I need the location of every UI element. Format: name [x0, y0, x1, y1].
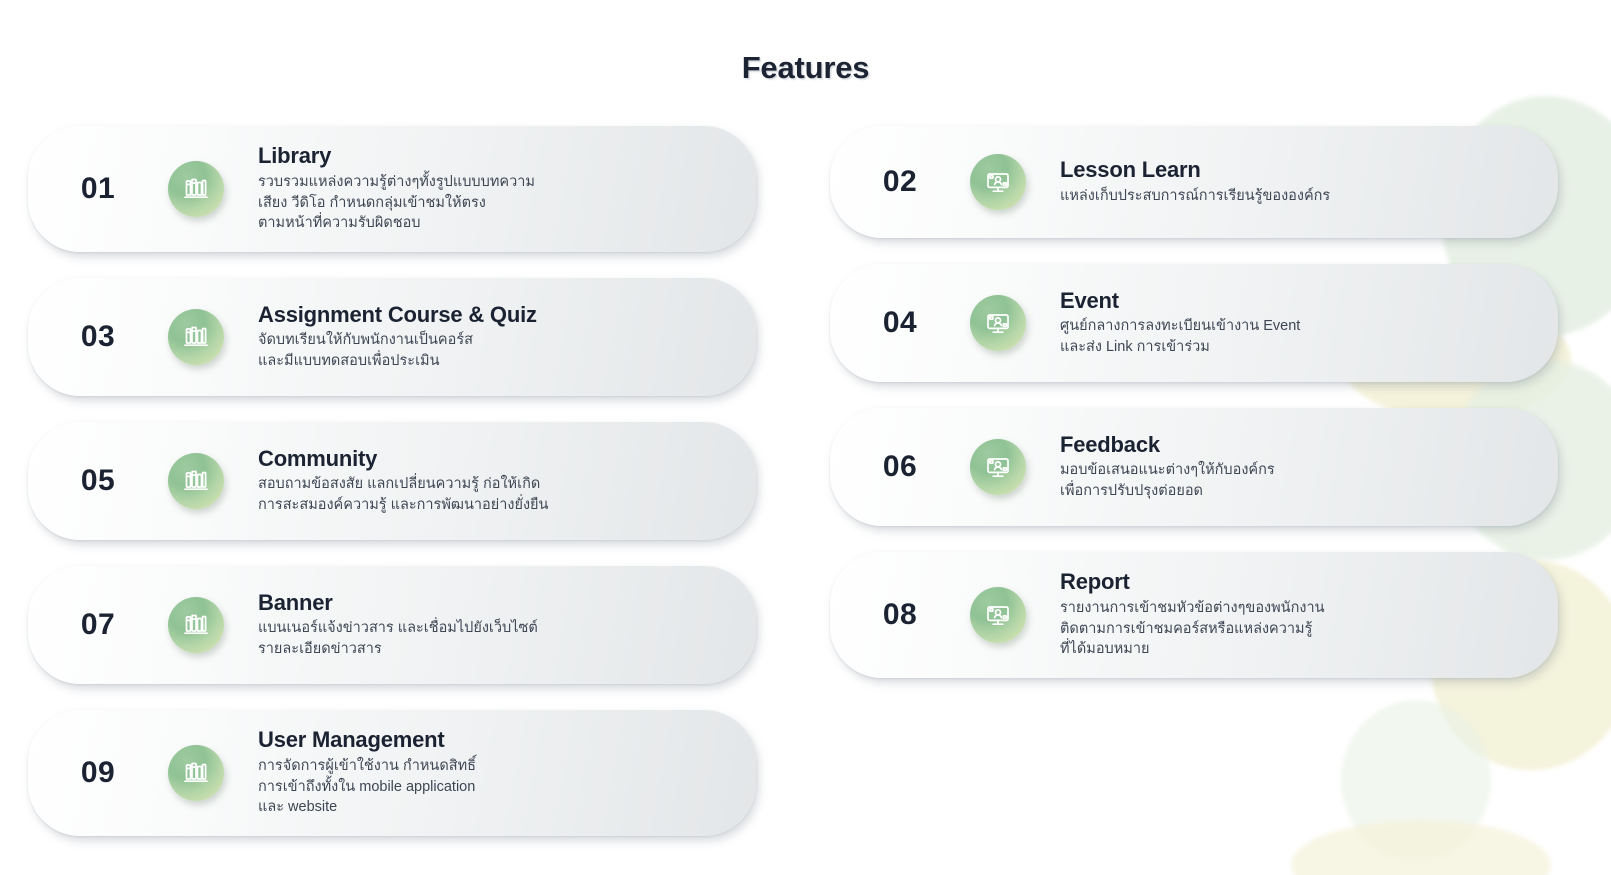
library-books-icon: [168, 161, 224, 217]
feature-number: 04: [830, 306, 970, 340]
feature-text-block: Assignment Course & Quizจัดบทเรียนให้กับ…: [258, 303, 756, 372]
feature-title: Community: [258, 447, 730, 472]
feature-icon-badge: [168, 745, 224, 801]
feature-icon-badge: [970, 439, 1026, 495]
feature-text-block: Bannerแบนเนอร์แจ้งข่าวสาร และเชื่อมไปยัง…: [258, 591, 756, 660]
feature-description: มอบข้อเสนอแนะต่างๆให้กับองค์กรเพื่อการปร…: [1060, 460, 1532, 501]
feature-text-block: Lesson Learnแหล่งเก็บประสบการณ์การเรียนร…: [1060, 158, 1558, 206]
feature-description: การจัดการผู้เข้าใช้งาน กำหนดสิทธิ์การเข้…: [258, 756, 730, 818]
feature-title: User Management: [258, 728, 730, 753]
feature-description-line: มอบข้อเสนอแนะต่างๆให้กับองค์กร: [1060, 460, 1532, 481]
feature-title: Lesson Learn: [1060, 158, 1532, 183]
feature-description: แหล่งเก็บประสบการณ์การเรียนรู้ขององค์กร: [1060, 186, 1532, 207]
feature-card[interactable]: 04Eventศูนย์กลางการลงทะเบียนเข้างาน Even…: [830, 264, 1558, 382]
feature-card[interactable]: 08Reportรายงานการเข้าชมหัวข้อต่างๆของพนั…: [830, 552, 1558, 678]
feature-description-line: สอบถามข้อสงสัย แลกเปลี่ยนความรู้ ก่อให้เ…: [258, 474, 730, 495]
monitor-screen-icon: [970, 154, 1026, 210]
feature-description-line: และ website: [258, 797, 730, 818]
feature-description-line: ศูนย์กลางการลงทะเบียนเข้างาน Event: [1060, 316, 1532, 337]
feature-icon-badge: [970, 587, 1026, 643]
feature-description-line: แบนเนอร์แจ้งข่าวสาร และเชื่อมไปยังเว็บไซ…: [258, 618, 730, 639]
feature-number: 07: [28, 608, 168, 642]
feature-description-line: ติดตามการเข้าชมคอร์สหรือแหล่งความรู้: [1060, 619, 1532, 640]
feature-number: 03: [28, 320, 168, 354]
feature-number: 06: [830, 450, 970, 484]
feature-number: 01: [28, 172, 168, 206]
feature-icon-badge: [168, 161, 224, 217]
feature-description: แบนเนอร์แจ้งข่าวสาร และเชื่อมไปยังเว็บไซ…: [258, 618, 730, 659]
feature-description-line: เสียง วีดิโอ กำหนดกลุ่มเข้าชมให้ตรง: [258, 193, 730, 214]
feature-text-block: Eventศูนย์กลางการลงทะเบียนเข้างาน Eventแ…: [1060, 289, 1558, 358]
library-books-icon: [168, 453, 224, 509]
feature-icon-badge: [168, 309, 224, 365]
feature-description-line: และส่ง Link การเข้าร่วม: [1060, 337, 1532, 358]
library-books-icon: [168, 745, 224, 801]
feature-text-block: Libraryรวบรวมแหล่งความรู้ต่างๆทั้งรูปแบบ…: [258, 144, 756, 233]
monitor-screen-icon: [970, 439, 1026, 495]
feature-icon-badge: [168, 597, 224, 653]
feature-description-line: รายงานการเข้าชมหัวข้อต่างๆของพนักงาน: [1060, 598, 1532, 619]
feature-card[interactable]: 06Feedbackมอบข้อเสนอแนะต่างๆให้กับองค์กร…: [830, 408, 1558, 526]
features-column-left: 01Libraryรวบรวมแหล่งความรู้ต่างๆทั้งรูปแ…: [28, 126, 756, 862]
feature-card[interactable]: 01Libraryรวบรวมแหล่งความรู้ต่างๆทั้งรูปแ…: [28, 126, 756, 252]
feature-description-line: ตามหน้าที่ความรับผิดชอบ: [258, 213, 730, 234]
feature-description-line: จัดบทเรียนให้กับพนักงานเป็นคอร์ส: [258, 330, 730, 351]
library-books-icon: [168, 597, 224, 653]
feature-title: Banner: [258, 591, 730, 616]
feature-card[interactable]: 02Lesson Learnแหล่งเก็บประสบการณ์การเรีย…: [830, 126, 1558, 238]
feature-description-line: ที่ได้มอบหมาย: [1060, 639, 1532, 660]
feature-description-line: เพื่อการปรับปรุงต่อยอด: [1060, 481, 1532, 502]
feature-card[interactable]: 05Communityสอบถามข้อสงสัย แลกเปลี่ยนความ…: [28, 422, 756, 540]
feature-title: Event: [1060, 289, 1532, 314]
feature-title: Report: [1060, 570, 1532, 595]
monitor-screen-icon: [970, 295, 1026, 351]
features-page: Features 01Libraryรวบรวมแหล่งความรู้ต่าง…: [0, 0, 1611, 875]
feature-number: 09: [28, 756, 168, 790]
feature-card[interactable]: 09User Managementการจัดการผู้เข้าใช้งาน …: [28, 710, 756, 836]
feature-text-block: User Managementการจัดการผู้เข้าใช้งาน กำ…: [258, 728, 756, 817]
background-blob-yellow: [1291, 820, 1551, 875]
feature-card[interactable]: 07Bannerแบนเนอร์แจ้งข่าวสาร และเชื่อมไปย…: [28, 566, 756, 684]
library-books-icon: [168, 309, 224, 365]
feature-description-line: รวบรวมแหล่งความรู้ต่างๆทั้งรูปแบบบทความ: [258, 172, 730, 193]
feature-description: รวบรวมแหล่งความรู้ต่างๆทั้งรูปแบบบทความเ…: [258, 172, 730, 234]
feature-icon-badge: [970, 295, 1026, 351]
feature-text-block: Communityสอบถามข้อสงสัย แลกเปลี่ยนความรู…: [258, 447, 756, 516]
monitor-screen-icon: [970, 587, 1026, 643]
feature-text-block: Feedbackมอบข้อเสนอแนะต่างๆให้กับองค์กรเพ…: [1060, 433, 1558, 502]
feature-description: สอบถามข้อสงสัย แลกเปลี่ยนความรู้ ก่อให้เ…: [258, 474, 730, 515]
feature-number: 08: [830, 598, 970, 632]
feature-description-line: และมีแบบทดสอบเพื่อประเมิน: [258, 351, 730, 372]
feature-description-line: การจัดการผู้เข้าใช้งาน กำหนดสิทธิ์: [258, 756, 730, 777]
features-columns: 01Libraryรวบรวมแหล่งความรู้ต่างๆทั้งรูปแ…: [0, 126, 1611, 826]
feature-title: Feedback: [1060, 433, 1532, 458]
page-title: Features: [0, 50, 1611, 86]
feature-title: Assignment Course & Quiz: [258, 303, 730, 328]
feature-text-block: Reportรายงานการเข้าชมหัวข้อต่างๆของพนักง…: [1060, 570, 1558, 659]
feature-description-line: การสะสมองค์ความรู้ และการพัฒนาอย่างยั่งย…: [258, 495, 730, 516]
feature-card[interactable]: 03Assignment Course & Quizจัดบทเรียนให้ก…: [28, 278, 756, 396]
feature-description: ศูนย์กลางการลงทะเบียนเข้างาน Eventและส่ง…: [1060, 316, 1532, 357]
feature-icon-badge: [970, 154, 1026, 210]
feature-title: Library: [258, 144, 730, 169]
feature-description: จัดบทเรียนให้กับพนักงานเป็นคอร์สและมีแบบ…: [258, 330, 730, 371]
feature-description: รายงานการเข้าชมหัวข้อต่างๆของพนักงานติดต…: [1060, 598, 1532, 660]
feature-number: 05: [28, 464, 168, 498]
features-column-right: 02Lesson Learnแหล่งเก็บประสบการณ์การเรีย…: [830, 126, 1558, 704]
feature-description-line: รายละเอียดข่าวสาร: [258, 639, 730, 660]
feature-icon-badge: [168, 453, 224, 509]
feature-description-line: แหล่งเก็บประสบการณ์การเรียนรู้ขององค์กร: [1060, 186, 1532, 207]
feature-number: 02: [830, 165, 970, 199]
feature-description-line: การเข้าถึงทั้งใน mobile application: [258, 777, 730, 798]
